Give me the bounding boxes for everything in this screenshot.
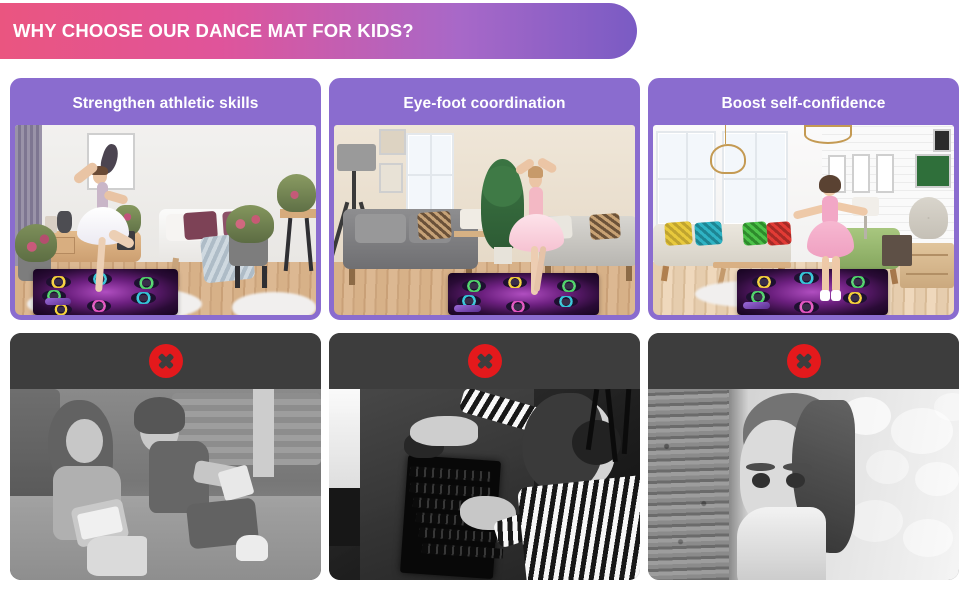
problem-card-2-photo [329, 389, 640, 580]
benefit-card-1-label: Strengthen athletic skills [72, 95, 258, 113]
benefit-card-2-label: Eye-foot coordination [403, 95, 565, 113]
benefit-card-2-photo [334, 125, 635, 315]
problems-row [10, 333, 960, 580]
problem-card-3-photo [648, 389, 959, 580]
benefit-card-1[interactable]: Strengthen athletic skills [10, 78, 321, 320]
problem-card-2-header [329, 333, 640, 389]
benefit-card-3-label: Boost self-confidence [721, 95, 885, 113]
benefit-card-1-header: Strengthen athletic skills [15, 83, 316, 125]
problem-card-3[interactable] [648, 333, 959, 580]
problem-card-2[interactable] [329, 333, 640, 580]
benefit-card-3-photo [653, 125, 954, 315]
problem-card-3-header [648, 333, 959, 389]
problem-card-1-header [10, 333, 321, 389]
benefits-row: Strengthen athletic skills [10, 78, 960, 320]
benefit-card-3[interactable]: Boost self-confidence [648, 78, 959, 320]
x-circle-icon [787, 344, 821, 378]
problem-card-1-photo [10, 389, 321, 580]
benefit-card-3-header: Boost self-confidence [653, 83, 954, 125]
problem-card-1[interactable] [10, 333, 321, 580]
benefit-card-2-header: Eye-foot coordination [334, 83, 635, 125]
x-circle-icon [149, 344, 183, 378]
benefit-card-2[interactable]: Eye-foot coordination [329, 78, 640, 320]
page-header-banner: WHY CHOOSE OUR DANCE MAT FOR KIDS? [0, 3, 637, 59]
page-title: WHY CHOOSE OUR DANCE MAT FOR KIDS? [0, 20, 414, 42]
benefit-card-1-photo [15, 125, 316, 315]
x-circle-icon [468, 344, 502, 378]
